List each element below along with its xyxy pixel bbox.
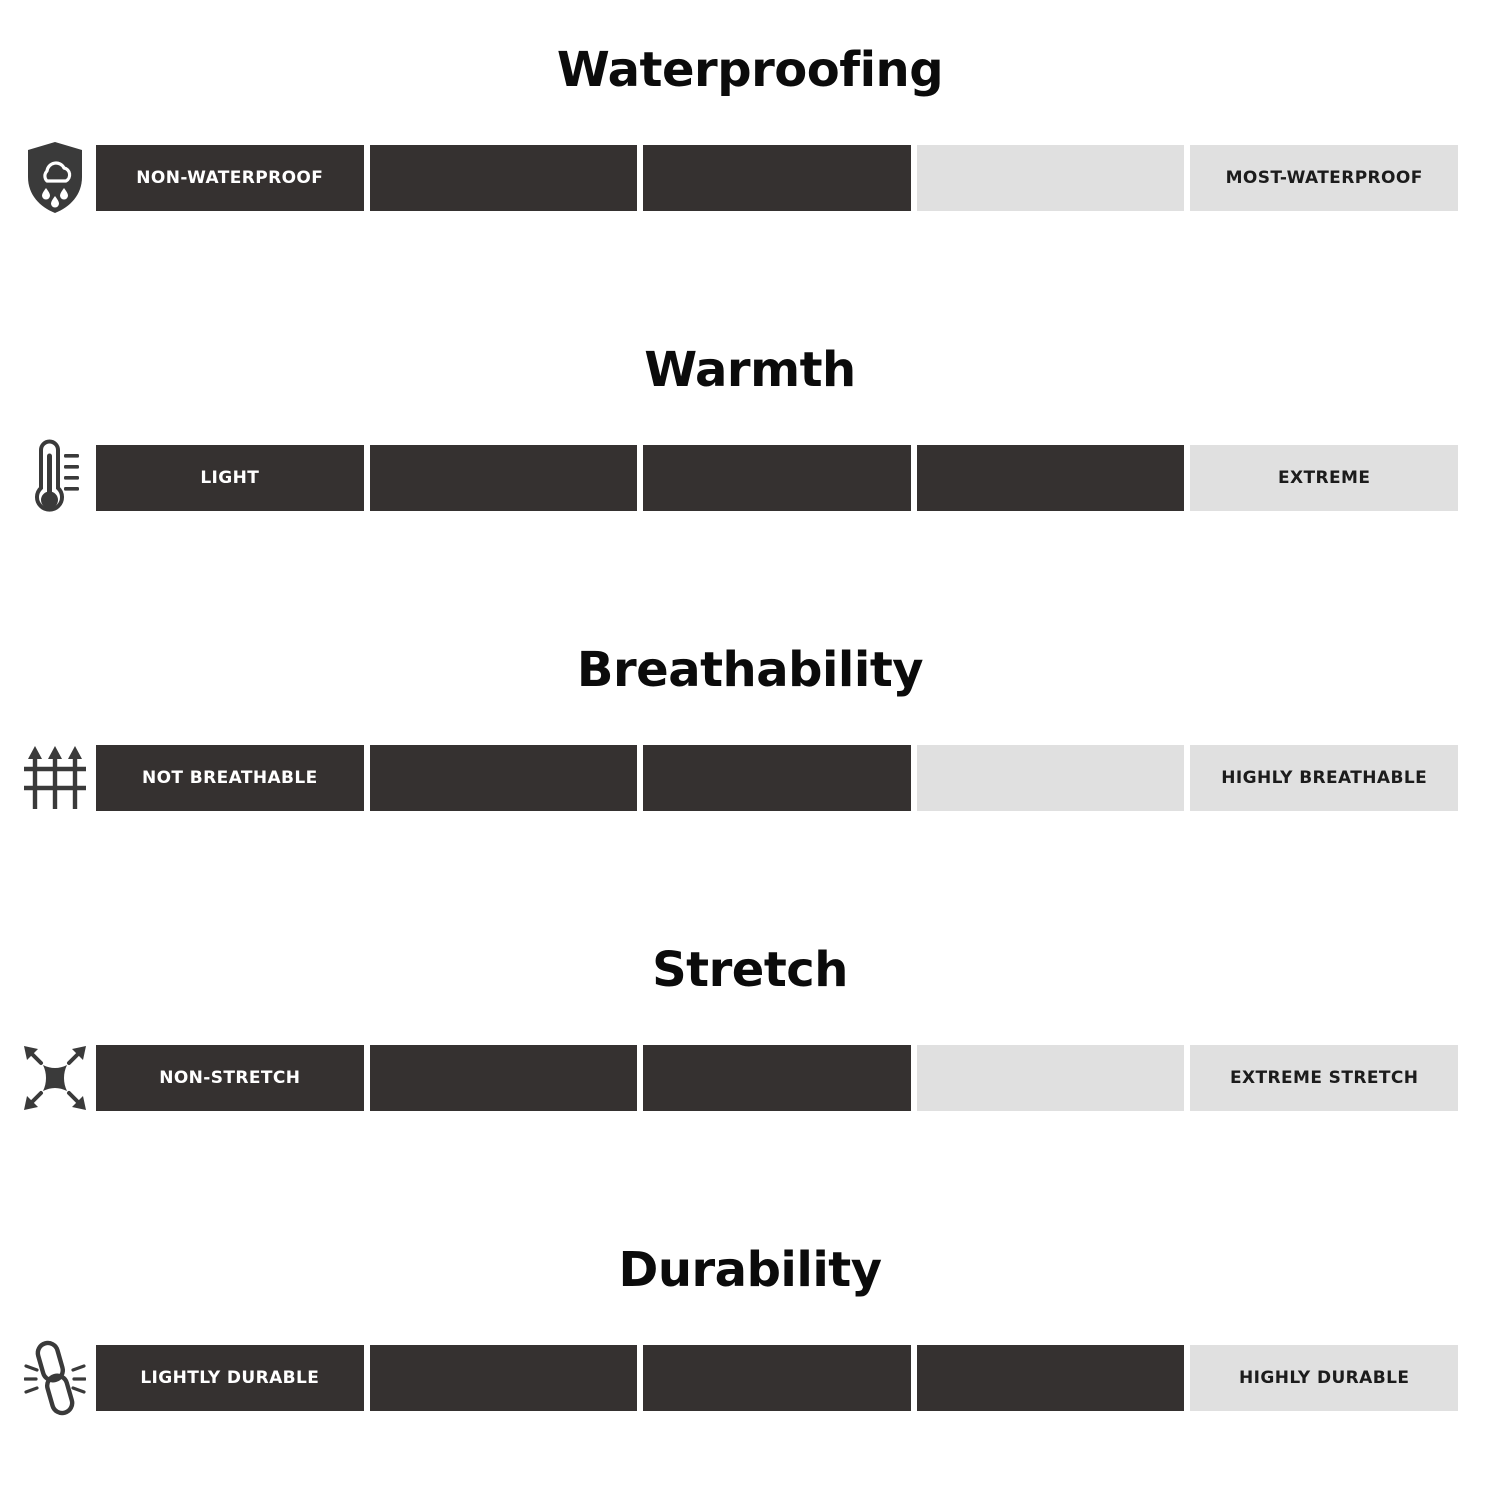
chain-link-icon [24, 1336, 86, 1420]
rating-segment-label: EXTREME STRETCH [1230, 1068, 1418, 1088]
rating-segment-label: EXTREME [1278, 468, 1370, 488]
rating-segment[interactable] [370, 145, 638, 211]
rating-segment[interactable] [643, 1045, 911, 1111]
rating-segment[interactable] [643, 745, 911, 811]
rating-section-stretch: Stretch NON-STRETCHEXTREME STRETCH [0, 906, 1500, 1206]
rating-segment[interactable] [643, 445, 911, 511]
rating-bar-row: LIGHTLY DURABLEHIGHLY DURABLE [0, 1328, 1500, 1428]
rating-segment-label: NOT BREATHABLE [142, 768, 318, 788]
rating-section-breathability: Breathability NOT BREATHABLEHIGHLY BREAT… [0, 606, 1500, 906]
rating-scale: NON-STRETCHEXTREME STRETCH [96, 1045, 1458, 1111]
section-title: Warmth [0, 306, 1500, 394]
air-flow-mesh-icon [22, 743, 88, 813]
rating-segment[interactable] [643, 1345, 911, 1411]
rating-section-warmth: Warmth LIGHTEXTREME [0, 306, 1500, 606]
rating-segment[interactable]: HIGHLY DURABLE [1190, 1345, 1458, 1411]
rating-segment[interactable] [370, 745, 638, 811]
rating-segment-label: NON-STRETCH [159, 1068, 300, 1088]
rating-segment[interactable] [917, 1045, 1185, 1111]
rating-segment-label: LIGHTLY DURABLE [140, 1368, 319, 1388]
rating-segment[interactable]: NOT BREATHABLE [96, 745, 364, 811]
rating-segment-label: MOST-WATERPROOF [1226, 168, 1423, 188]
air-flow-mesh-icon [0, 732, 96, 824]
section-title: Durability [0, 1206, 1500, 1294]
rating-scale: NON-WATERPROOFMOST-WATERPROOF [96, 145, 1458, 211]
rating-segment[interactable] [917, 145, 1185, 211]
fabric-performance-rating-sheet: Waterproofing NON-WATERPROOFMOST-WATERPR… [0, 0, 1500, 1500]
rating-scale: LIGHTEXTREME [96, 445, 1458, 511]
thermometer-icon [27, 436, 83, 520]
rating-segment[interactable] [370, 1345, 638, 1411]
rating-scale: LIGHTLY DURABLEHIGHLY DURABLE [96, 1345, 1458, 1411]
rating-segment[interactable]: LIGHTLY DURABLE [96, 1345, 364, 1411]
rating-segment[interactable] [643, 145, 911, 211]
rating-bar-row: NON-STRETCHEXTREME STRETCH [0, 1028, 1500, 1128]
rating-segment-label: LIGHT [200, 468, 259, 488]
rating-scale: NOT BREATHABLEHIGHLY BREATHABLE [96, 745, 1458, 811]
section-title: Stretch [0, 906, 1500, 994]
rating-segment-label: HIGHLY DURABLE [1239, 1368, 1409, 1388]
expand-arrows-icon [0, 1032, 96, 1124]
rating-bar-row: NON-WATERPROOFMOST-WATERPROOF [0, 128, 1500, 228]
chain-link-icon [0, 1332, 96, 1424]
rating-segment[interactable] [917, 1345, 1185, 1411]
section-title: Breathability [0, 606, 1500, 694]
rating-section-waterproofing: Waterproofing NON-WATERPROOFMOST-WATERPR… [0, 6, 1500, 306]
rating-segment[interactable]: EXTREME STRETCH [1190, 1045, 1458, 1111]
expand-arrows-icon [21, 1043, 89, 1113]
rating-segment[interactable] [917, 445, 1185, 511]
rating-segment[interactable] [917, 745, 1185, 811]
rating-segment[interactable]: NON-WATERPROOF [96, 145, 364, 211]
rating-segment[interactable]: LIGHT [96, 445, 364, 511]
rating-segment-label: HIGHLY BREATHABLE [1221, 768, 1427, 788]
shield-rain-icon [26, 141, 84, 215]
rating-segment[interactable] [370, 445, 638, 511]
rating-section-durability: Durability LIGHTLY DURABLEHIGHLY DURABLE [0, 1206, 1500, 1500]
rating-segment[interactable]: MOST-WATERPROOF [1190, 145, 1458, 211]
thermometer-icon [0, 432, 96, 524]
rating-segment-label: NON-WATERPROOF [136, 168, 323, 188]
rating-segment[interactable]: HIGHLY BREATHABLE [1190, 745, 1458, 811]
rating-segment[interactable] [370, 1045, 638, 1111]
rating-segment[interactable]: EXTREME [1190, 445, 1458, 511]
section-title: Waterproofing [0, 6, 1500, 94]
rating-bar-row: LIGHTEXTREME [0, 428, 1500, 528]
shield-rain-icon [0, 132, 96, 224]
rating-bar-row: NOT BREATHABLEHIGHLY BREATHABLE [0, 728, 1500, 828]
rating-segment[interactable]: NON-STRETCH [96, 1045, 364, 1111]
